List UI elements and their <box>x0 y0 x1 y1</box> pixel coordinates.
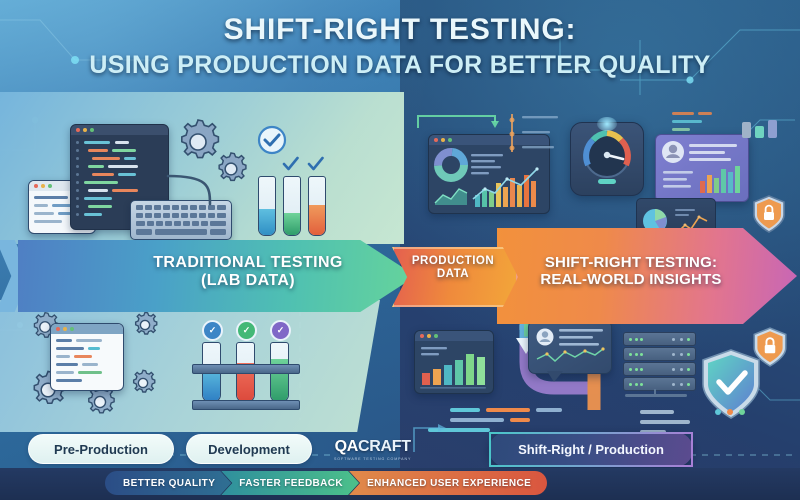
brand-name-craft: CRAFT <box>358 438 411 455</box>
stage-pill-pre-production[interactable]: Pre-Production <box>28 434 174 464</box>
brand-name: QACRAFT <box>334 438 411 456</box>
app-window <box>50 323 124 391</box>
check-badge-icon: ✓ <box>202 320 223 341</box>
stage-pill-shift-right-production[interactable]: Shift-Right / Production <box>489 432 693 467</box>
test-tube-icon <box>283 176 301 236</box>
server-unit <box>623 362 696 376</box>
production-data-label: PRODUCTION DATA <box>398 255 508 281</box>
keyboard-cable <box>166 172 226 208</box>
flow-connectors <box>400 100 800 250</box>
traditional-testing-label: TRADITIONAL TESTING (LAB DATA) <box>118 254 378 291</box>
benefit-chip-better-quality[interactable]: BETTER QUALITY <box>105 471 231 495</box>
brand-name-qa: QA <box>335 438 358 455</box>
benefit-label-better-quality: BETTER QUALITY <box>123 478 215 489</box>
stage-pill-development[interactable]: Development <box>186 434 312 464</box>
benefit-label-faster-feedback: FASTER FEEDBACK <box>239 478 343 489</box>
production-data-line2: DATA <box>398 268 508 281</box>
production-data-line1: PRODUCTION <box>398 255 508 268</box>
benefit-chip-enhanced-user-experience[interactable]: ENHANCED USER EXPERIENCE <box>349 471 547 495</box>
server-unit <box>623 347 696 361</box>
traditional-testing-line1: TRADITIONAL TESTING <box>118 254 378 272</box>
server-unit <box>623 332 696 346</box>
shift-right-line1: SHIFT-RIGHT TESTING: <box>518 254 744 271</box>
lock-shield-icon <box>752 326 788 368</box>
header: SHIFT-RIGHT TESTING: USING PRODUCTION DA… <box>0 0 800 92</box>
test-tube-rack: ✓ ✓ ✓ <box>196 320 302 410</box>
rack-shelf <box>192 364 300 374</box>
traditional-testing-line2: (LAB DATA) <box>118 272 378 290</box>
user-feedback-bubble <box>528 320 612 374</box>
brand-watermark: QACRAFT SOFTWARE TESTING COMPANY <box>334 438 411 461</box>
server-rack-icon <box>623 332 693 398</box>
brand-tagline: SOFTWARE TESTING COMPANY <box>334 457 411 461</box>
infographic-canvas: SHIFT-RIGHT TESTING: USING PRODUCTION DA… <box>0 0 800 500</box>
page-subtitle: USING PRODUCTION DATA FOR BETTER QUALITY <box>89 52 710 78</box>
check-badge-icon: ✓ <box>236 320 257 341</box>
gear-icon <box>130 310 160 340</box>
test-tube-icon <box>258 176 276 236</box>
shift-right-line2: REAL-WORLD INSIGHTS <box>518 271 744 288</box>
check-badge-icon: ✓ <box>270 320 291 341</box>
monitor-window <box>414 330 494 394</box>
check-mark-icon <box>282 156 300 172</box>
check-mark-icon <box>307 156 325 172</box>
gear-icon <box>128 368 158 398</box>
server-unit <box>623 377 696 391</box>
stage-pill-shift-right-label: Shift-Right / Production <box>518 442 664 457</box>
check-badge-icon <box>256 124 288 156</box>
benefit-chip-faster-feedback[interactable]: FASTER FEEDBACK <box>221 471 359 495</box>
stage-pill-pre-production-label: Pre-Production <box>54 442 148 457</box>
rack-base <box>192 400 300 410</box>
test-tube-icon <box>308 176 326 236</box>
benefits-ribbon: BETTER QUALITY FASTER FEEDBACK ENHANCED … <box>105 471 547 495</box>
benefit-label-enhanced-user-experience: ENHANCED USER EXPERIENCE <box>367 478 531 489</box>
page-title: SHIFT-RIGHT TESTING: <box>224 14 577 46</box>
stage-pill-development-label: Development <box>208 442 290 457</box>
shift-right-label: SHIFT-RIGHT TESTING: REAL-WORLD INSIGHTS <box>518 254 744 289</box>
